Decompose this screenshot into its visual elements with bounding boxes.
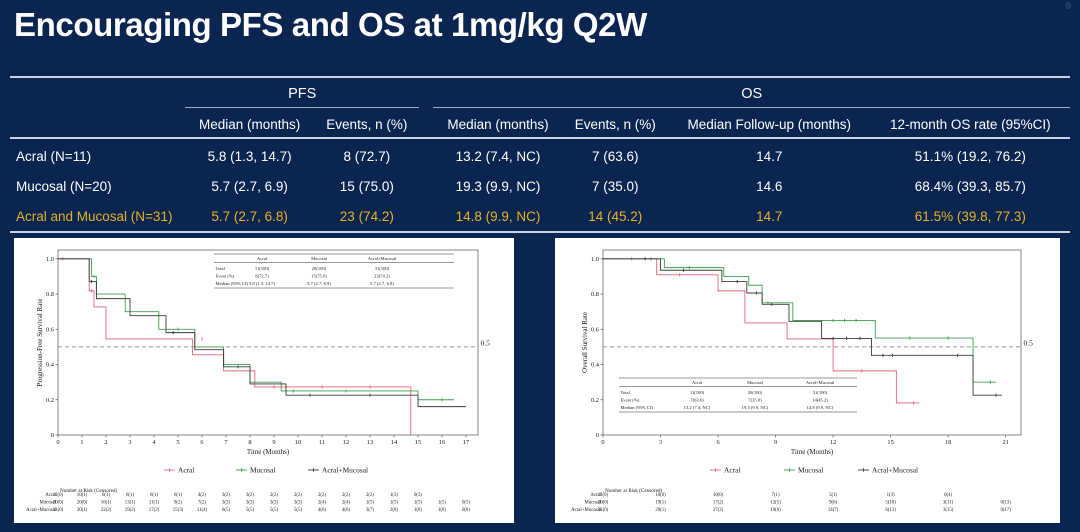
y-tick-label: 0.4 (46, 362, 55, 369)
x-tick-label: 6 (716, 439, 719, 446)
risk-value: 0(17) (1000, 508, 1011, 513)
legend-label: Acral+Mucosal (322, 466, 368, 475)
cell-followup: 14.6 (668, 171, 871, 201)
risk-value: 0(5) (462, 501, 470, 506)
risk-value: 15(3) (173, 508, 184, 513)
y-tick-label: 0.2 (591, 397, 599, 404)
os-km-plot: 0.500.20.40.60.81.0036912151821Time (Mon… (555, 238, 1060, 523)
cell-os-events: 7 (63.6) (563, 141, 668, 171)
risk-value: 29(1) (655, 508, 666, 513)
risk-value: 6(1) (174, 493, 182, 498)
risk-value: 2(2) (318, 493, 326, 498)
inset-row-label: Total (621, 390, 631, 395)
table-row: Mucosal (N=20)5.7 (2.7, 6.9)15 (75.0)19.… (10, 171, 1070, 201)
risk-value: 5(5) (246, 508, 254, 513)
risk-value: 11(0) (598, 493, 609, 498)
risk-value: 16(1) (101, 501, 112, 506)
km-curve-mucosal (603, 259, 996, 382)
risk-value: 30(1) (77, 508, 88, 513)
legend-label: Acral+Mucosal (872, 466, 918, 475)
km-curve-mucosal (58, 259, 454, 400)
x-tick-label: 18 (945, 439, 951, 446)
risk-value: 3(3) (270, 501, 278, 506)
cell-pfs-median: 5.7 (2.7, 6.9) (185, 171, 314, 201)
risk-value: 2(4) (318, 501, 326, 506)
x-tick-label: 9 (272, 439, 275, 446)
inset-cell: 31(100) (375, 266, 390, 271)
y-tick-label: 0.8 (46, 291, 54, 298)
risk-value: 3(3) (222, 501, 230, 506)
risk-value: 11(4) (197, 508, 208, 513)
risk-value: 1(5) (390, 501, 398, 506)
cell-pfs-events: 8 (72.7) (314, 141, 419, 171)
cell-pfs-median: 5.8 (1.3, 14.7) (185, 141, 314, 171)
x-tick-label: 7 (224, 439, 228, 446)
legend-label: Acral (724, 466, 740, 475)
risk-value: 2(4) (342, 501, 350, 506)
inset-row-label: Event (%) (216, 274, 235, 279)
cell-os-events: 14 (45.2) (563, 201, 668, 232)
cell-os-median: 14.8 (9.9, NC) (433, 201, 562, 232)
risk-value: 9(6) (829, 501, 837, 506)
group-header-os: OS (433, 80, 1070, 108)
slide-number: 9 (1065, 1, 1071, 12)
x-axis-title: Time (Months) (247, 448, 290, 456)
cell-pfs-events: 23 (74.2) (314, 201, 419, 232)
x-tick-label: 2 (104, 439, 107, 446)
risk-value: 3(11) (943, 501, 954, 506)
risk-value: 3(3) (294, 501, 302, 506)
risk-value: 5(5) (270, 508, 278, 513)
x-tick-label: 4 (152, 439, 156, 446)
x-tick-label: 15 (887, 439, 893, 446)
risk-value: 3(15) (943, 508, 954, 513)
x-tick-label: 13 (367, 439, 373, 446)
risk-value: 31(0) (598, 508, 609, 513)
inset-row-label: Median (95% CI) (621, 405, 654, 410)
inset-cell: 31(100) (813, 390, 828, 395)
risk-value: 2(8) (390, 508, 398, 513)
x-tick-label: 14 (391, 439, 398, 446)
risk-value: 20(0) (53, 501, 64, 506)
risk-value: 6(13) (885, 508, 896, 513)
risk-value: 11(0) (53, 493, 64, 498)
risk-value: 10(0) (713, 493, 724, 498)
risk-value: 1(3) (390, 493, 398, 498)
inset-cell: 19.3 (9.9, NC) (742, 405, 769, 411)
risk-value: 0(3) (414, 493, 422, 498)
inset-cell: 5.7 (2.7, 6.9) (307, 281, 331, 287)
inset-cell: 7(63.6) (690, 398, 704, 403)
risk-value: 10(0) (655, 493, 666, 498)
y-tick-label: 1.0 (46, 256, 54, 263)
inset-cell: 23(74.2) (374, 274, 390, 279)
summary-table-container: PFSOSMedian (months)Events, n (%)Median … (10, 76, 1070, 235)
x-axis-title: Time (Months) (791, 448, 834, 456)
inset-cell: 7(35.0) (748, 398, 762, 403)
inset-cell: 14.8 (9.9, NC) (807, 405, 834, 411)
inset-cell: 20(100) (312, 266, 327, 271)
x-tick-label: 6 (200, 439, 203, 446)
x-tick-label: 12 (830, 439, 836, 446)
y-tick-label: 0.2 (46, 397, 54, 404)
page-title: Encouraging PFS and OS at 1mg/kg Q2W (14, 6, 647, 44)
inset-col-header: Acral+Mucosal (806, 380, 835, 385)
risk-value: 6(1) (102, 493, 110, 498)
inset-row-label: Total (216, 266, 226, 271)
x-tick-label: 0 (56, 439, 59, 446)
col-header-pfs-median: Median (months) (185, 111, 314, 138)
x-tick-label: 17 (463, 439, 470, 446)
col-header-os-events: Events, n (%) (563, 111, 668, 138)
row-label: Mucosal (N=20) (10, 171, 185, 201)
cell-os12: 61.5% (39.8, 77.3) (871, 201, 1070, 232)
risk-table-title: Number at Risk (Censored) (605, 487, 662, 494)
risk-value: 3(7) (366, 508, 374, 513)
cell-os12: 68.4% (39.3, 85.7) (871, 171, 1070, 201)
x-tick-label: 21 (1002, 439, 1008, 446)
risk-value: 19(2) (125, 508, 136, 513)
risk-value: 2(2) (294, 493, 302, 498)
x-tick-label: 8 (248, 439, 251, 446)
inset-cell: 15(75.0) (311, 274, 327, 279)
cell-os12: 51.1% (19.2, 76.2) (871, 141, 1070, 171)
inset-col-header: Acral+Mucosal (368, 256, 397, 261)
cell-os-median: 13.2 (7.4, NC) (433, 141, 562, 171)
cell-os-median: 19.3 (9.9, NC) (433, 171, 562, 201)
risk-value: 17(2) (713, 501, 724, 506)
y-tick-label: 0.6 (46, 326, 54, 333)
risk-value: 1(5) (414, 501, 422, 506)
km-curve-acral-mucosal (603, 259, 1002, 395)
risk-value: 10(1) (77, 493, 88, 498)
risk-value: 19(6) (770, 508, 781, 513)
risk-value: 7(1) (772, 493, 780, 498)
col-header-os12: 12-month OS rate (95%CI) (871, 111, 1070, 138)
os-chart-panel: 0.500.20.40.60.81.0036912151821Time (Mon… (555, 238, 1060, 523)
risk-value: 14(7) (828, 508, 839, 513)
x-tick-label: 11 (319, 439, 325, 446)
risk-value: 13(1) (125, 501, 136, 506)
risk-value: 6(5) (222, 508, 230, 513)
y-tick-label: 0 (51, 432, 54, 439)
risk-value: 1(8) (438, 508, 446, 513)
risk-value: 27(2) (713, 508, 724, 513)
pfs-chart-panel: 0.500.20.40.60.81.0012345678910111213141… (14, 238, 514, 523)
inset-col-header: Mucosal (747, 380, 764, 385)
inset-cell: 14(45.2) (812, 398, 828, 403)
legend-label: Mucosal (250, 466, 275, 475)
risk-value: 11(1) (149, 501, 160, 506)
x-tick-label: 3 (659, 439, 662, 446)
y-tick-label: 1.0 (591, 256, 599, 263)
y-tick-label: 0.8 (591, 291, 599, 298)
summary-table: PFSOSMedian (months)Events, n (%)Median … (10, 76, 1070, 235)
pfs-km-plot: 0.500.20.40.60.81.0012345678910111213141… (14, 238, 514, 523)
risk-value: 6(1) (126, 493, 134, 498)
risk-value: 6(1) (150, 493, 158, 498)
x-tick-label: 15 (415, 439, 421, 446)
risk-value: 1(8) (414, 508, 422, 513)
col-header-pfs-events: Events, n (%) (314, 111, 419, 138)
risk-value: 20(0) (598, 501, 609, 506)
x-tick-label: 0 (601, 439, 604, 446)
col-header-os-median: Median (months) (433, 111, 562, 138)
risk-value: 1(5) (438, 501, 446, 506)
cell-pfs-median: 5.7 (2.7, 6.8) (185, 201, 314, 232)
y-tick-label: 0.6 (591, 326, 599, 333)
risk-value: 2(2) (366, 493, 374, 498)
x-tick-label: 10 (295, 439, 301, 446)
inset-col-header: Mucosal (311, 256, 328, 261)
legend-label: Mucosal (798, 466, 823, 475)
reference-line-label: 0.5 (481, 338, 491, 347)
risk-value: 0(4) (944, 493, 952, 498)
risk-value: 19(1) (655, 501, 666, 506)
risk-value: 0(8) (462, 508, 470, 513)
inset-col-header: Acral (257, 256, 268, 261)
reference-line-label: 0.5 (1024, 338, 1034, 347)
inset-cell: 20(100) (748, 390, 763, 395)
cell-followup: 14.7 (668, 141, 871, 171)
risk-value: 4(6) (342, 508, 350, 513)
risk-value: 0(13) (1000, 501, 1011, 506)
risk-value: 12(5) (770, 501, 781, 506)
x-tick-label: 12 (343, 439, 349, 446)
x-tick-label: 3 (128, 439, 131, 446)
table-row: Acral and Mucosal (N=31)5.7 (2.7, 6.8)23… (10, 201, 1070, 232)
inset-cell: 5.8 (1.3, 14.7) (249, 281, 275, 287)
risk-value: 4(2) (198, 493, 206, 498)
y-tick-label: 0.4 (591, 362, 600, 369)
risk-value: 17(2) (149, 508, 160, 513)
inset-row-label: Median (95% CI) (216, 281, 249, 286)
risk-value: 5(5) (294, 508, 302, 513)
col-header-followup: Median Follow-up (months) (668, 111, 871, 138)
inset-col-header: Acral (692, 380, 703, 385)
risk-value: 20(0) (77, 501, 88, 506)
inset-cell: 13.2 (7.4, NC) (684, 405, 711, 411)
cell-os-events: 7 (35.0) (563, 171, 668, 201)
risk-value: 3(3) (246, 501, 254, 506)
x-tick-label: 5 (176, 439, 179, 446)
inset-row-label: Event (%) (621, 398, 640, 403)
inset-cell: 8(72.7) (255, 274, 269, 279)
row-label: Acral and Mucosal (N=31) (10, 201, 185, 232)
x-tick-label: 1 (80, 439, 83, 446)
risk-value: 3(2) (246, 493, 254, 498)
inset-cell: 11(100) (255, 266, 270, 271)
x-tick-label: 16 (439, 439, 445, 446)
inset-cell: 5.7 (2.7, 6.8) (370, 281, 394, 287)
y-tick-label: 0 (596, 432, 599, 439)
risk-value: 9(2) (174, 501, 182, 506)
risk-value: 31(0) (53, 508, 64, 513)
risk-value: 22(2) (101, 508, 112, 513)
row-label: Acral (N=11) (10, 141, 185, 171)
risk-value: 2(2) (342, 493, 350, 498)
cell-followup: 14.7 (668, 201, 871, 232)
risk-value: 1(3) (887, 493, 895, 498)
risk-value: 5(10) (885, 501, 896, 506)
risk-value: 7(2) (198, 501, 206, 506)
cell-pfs-events: 15 (75.0) (314, 171, 419, 201)
risk-value: 4(6) (318, 508, 326, 513)
y-axis-title: Progression-Free Survival Rate (36, 299, 44, 387)
x-tick-label: 9 (774, 439, 777, 446)
table-row: Acral (N=11)5.8 (1.3, 14.7)8 (72.7)13.2 … (10, 141, 1070, 171)
legend-label: Acral (178, 466, 194, 475)
risk-value: 2(2) (270, 493, 278, 498)
group-header-pfs: PFS (185, 80, 419, 108)
risk-value: 1(5) (366, 501, 374, 506)
risk-value: 5(1) (829, 493, 837, 498)
risk-value: 3(2) (222, 493, 230, 498)
inset-cell: 11(100) (690, 390, 705, 395)
y-axis-title: Overall Survival Rate (581, 312, 589, 373)
